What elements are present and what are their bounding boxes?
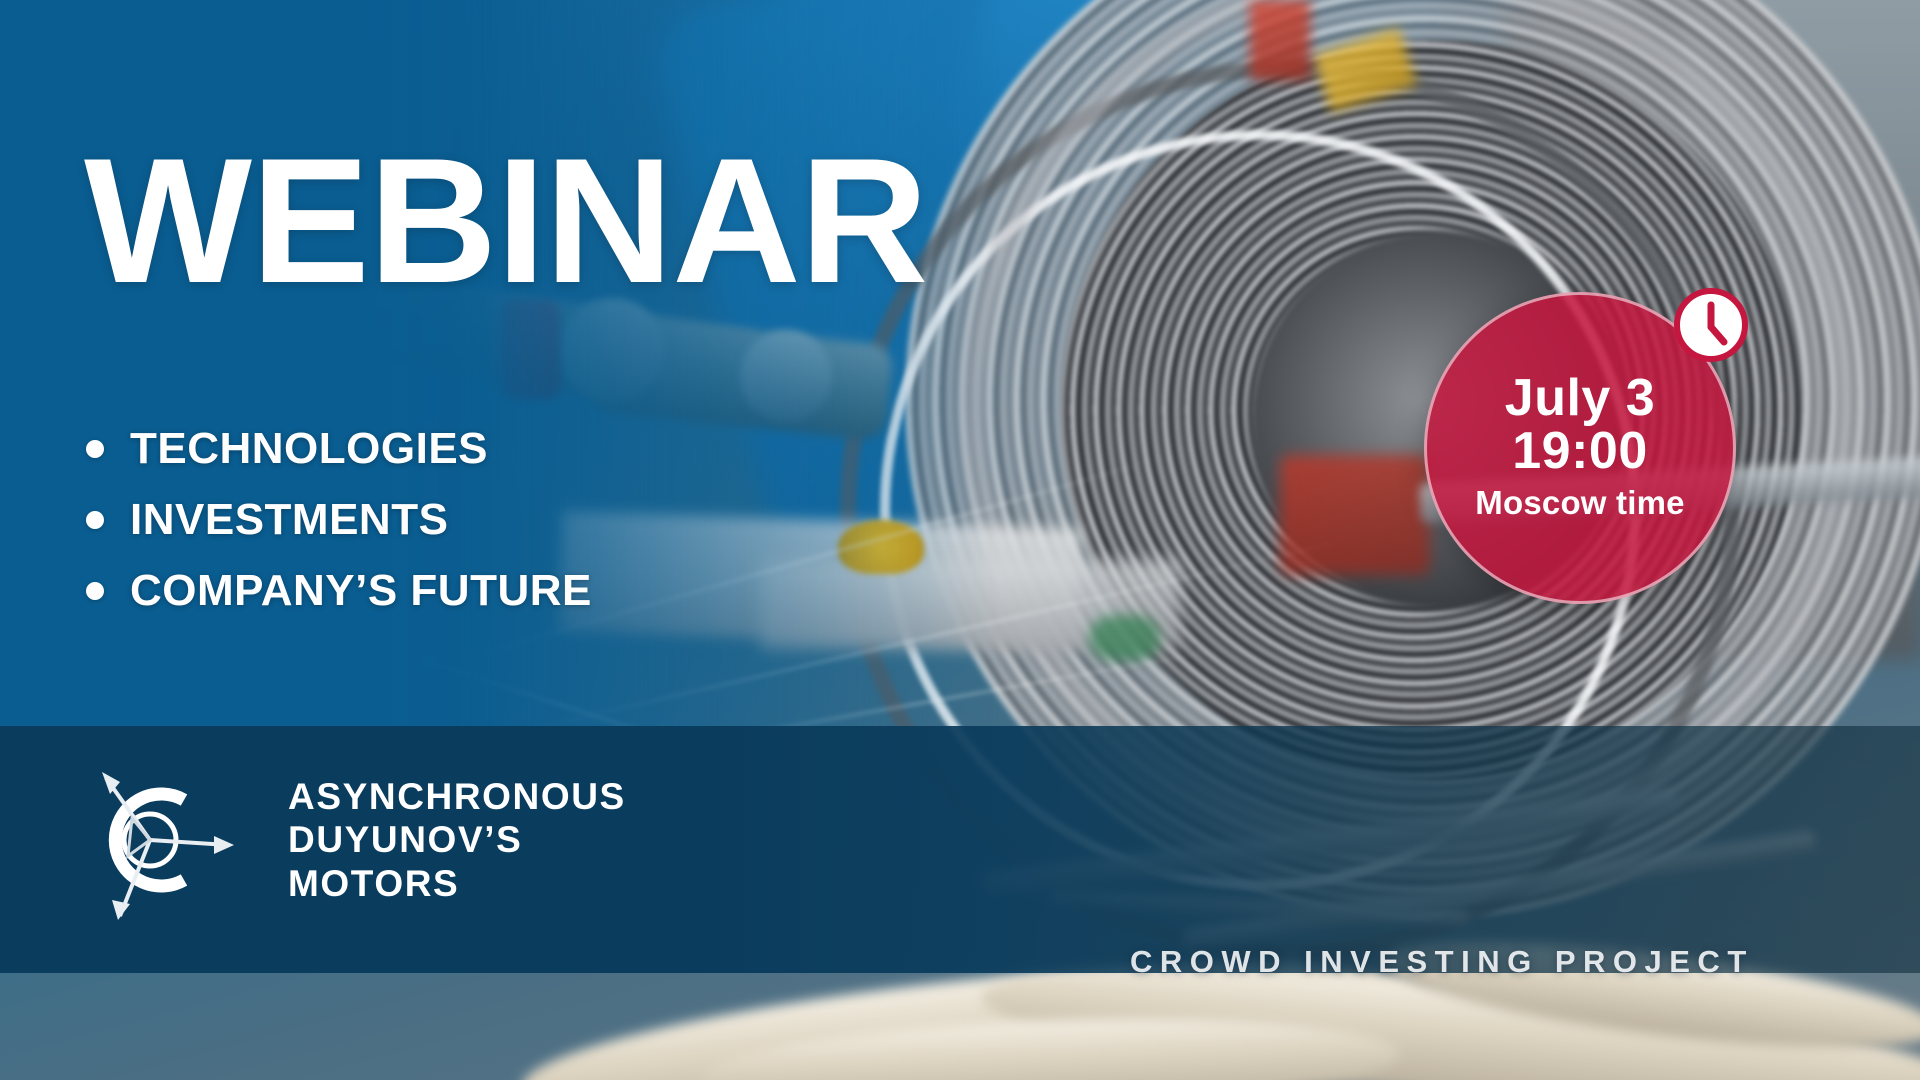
asynchronous-motor-logo-icon (88, 760, 238, 920)
event-datetime-badge: July 3 19:00 Moscow time (1424, 292, 1736, 604)
bullet-dot-icon (86, 511, 104, 529)
brand-name-line1: ASYNCHRONOUS (288, 775, 626, 818)
bullet-dot-icon (86, 440, 104, 458)
webinar-banner: WEBINAR TECHNOLOGIES INVESTMENTS COMPANY… (0, 0, 1920, 1080)
brand-name-line3: MOTORS (288, 862, 626, 905)
brand-name: ASYNCHRONOUS DUYUNOV’S MOTORS (288, 775, 626, 905)
topic-label: INVESTMENTS (130, 495, 448, 545)
clock-icon (1674, 288, 1748, 362)
list-item: TECHNOLOGIES (86, 424, 592, 474)
brand-logo-block: ASYNCHRONOUS DUYUNOV’S MOTORS (88, 760, 626, 920)
list-item: INVESTMENTS (86, 495, 592, 545)
banner-title: WEBINAR (84, 132, 927, 310)
topic-label: TECHNOLOGIES (130, 424, 488, 474)
banner-content: WEBINAR TECHNOLOGIES INVESTMENTS COMPANY… (0, 0, 1920, 1080)
badge-date: July 3 (1505, 372, 1655, 425)
brand-name-line2: DUYUNOV’S (288, 818, 626, 861)
bullet-dot-icon (86, 582, 104, 600)
tagline: CROWD INVESTING PROJECT (1130, 944, 1754, 980)
topic-label: COMPANY’S FUTURE (130, 566, 592, 616)
list-item: COMPANY’S FUTURE (86, 566, 592, 616)
topic-list: TECHNOLOGIES INVESTMENTS COMPANY’S FUTUR… (86, 424, 592, 637)
badge-time: 19:00 (1512, 425, 1648, 478)
badge-timezone: Moscow time (1475, 482, 1684, 525)
